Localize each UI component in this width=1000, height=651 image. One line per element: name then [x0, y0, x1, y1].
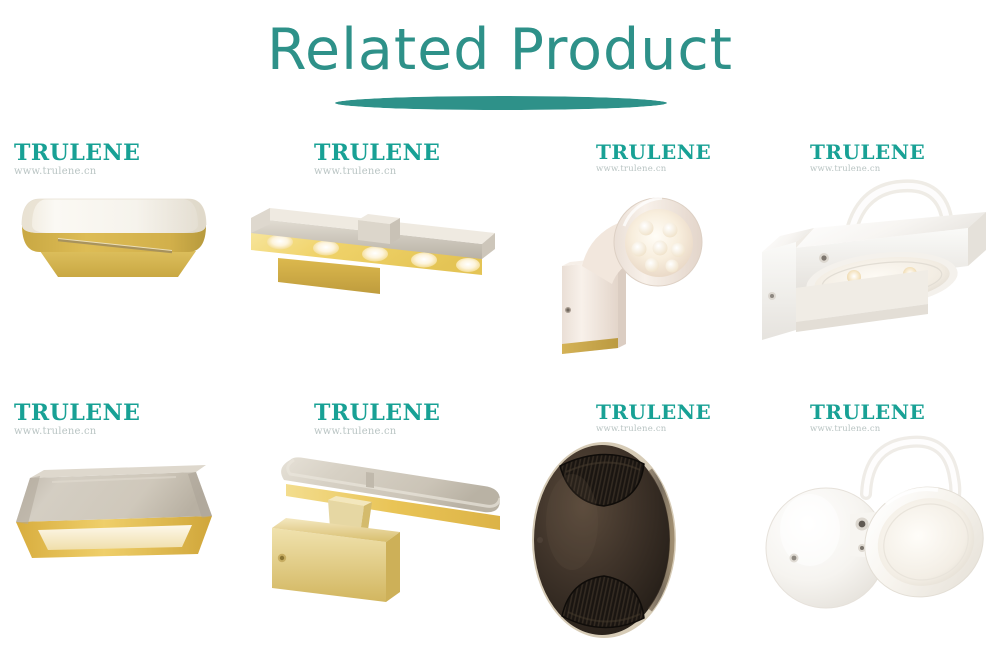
- product-row: TRULENE www.trulene.cn: [0, 390, 1000, 650]
- product-image-wall-lamp-oval-bronze: [500, 430, 750, 650]
- watermark: TRULENE www.trulene.cn: [596, 402, 750, 434]
- watermark: TRULENE www.trulene.cn: [810, 402, 1000, 434]
- page-title: Related Product: [0, 18, 1000, 84]
- watermark-brand: TRULENE: [14, 142, 244, 164]
- product-image-wall-lamp-rounded-rect: [0, 170, 250, 390]
- related-product-banner: Related Product TRULENE www.trulene.cn: [0, 0, 1000, 651]
- watermark-brand: TRULENE: [810, 142, 1000, 162]
- product-cell[interactable]: TRULENE www.trulene.cn: [250, 130, 500, 390]
- watermark-brand: TRULENE: [314, 142, 500, 164]
- product-image-wall-lamp-trapezoid: [0, 430, 250, 650]
- product-cell[interactable]: TRULENE www.trulene.cn: [750, 130, 1000, 390]
- watermark: TRULENE www.trulene.cn: [596, 142, 750, 174]
- product-row: TRULENE www.trulene.cn: [0, 130, 1000, 390]
- watermark-brand: TRULENE: [14, 402, 244, 424]
- product-image-wall-lamp-linear-bar: [250, 170, 500, 390]
- product-grid: TRULENE www.trulene.cn: [0, 130, 1000, 651]
- header: Related Product: [0, 0, 1000, 130]
- watermark-brand: TRULENE: [596, 142, 750, 162]
- watermark-brand: TRULENE: [810, 402, 1000, 422]
- product-cell[interactable]: TRULENE www.trulene.cn: [0, 390, 250, 650]
- product-image-wall-lamp-gooseneck-rect: [750, 170, 1000, 390]
- product-image-wall-lamp-picture-light: [250, 430, 500, 650]
- watermark: TRULENE www.trulene.cn: [810, 142, 1000, 174]
- watermark-brand: TRULENE: [596, 402, 750, 422]
- product-cell[interactable]: TRULENE www.trulene.cn: [500, 130, 750, 390]
- lens-divider-icon: [335, 96, 667, 110]
- product-image-wall-lamp-round-spot: [500, 170, 750, 390]
- watermark-brand: TRULENE: [314, 402, 500, 424]
- product-cell[interactable]: TRULENE www.trulene.cn: [0, 130, 250, 390]
- product-cell[interactable]: TRULENE www.trulene.cn: [750, 390, 1000, 650]
- product-cell[interactable]: TRULENE www.trulene.cn: [500, 390, 750, 650]
- product-cell[interactable]: TRULENE www.trulene.cn: [250, 390, 500, 650]
- product-image-wall-lamp-round-disc: [750, 430, 1000, 650]
